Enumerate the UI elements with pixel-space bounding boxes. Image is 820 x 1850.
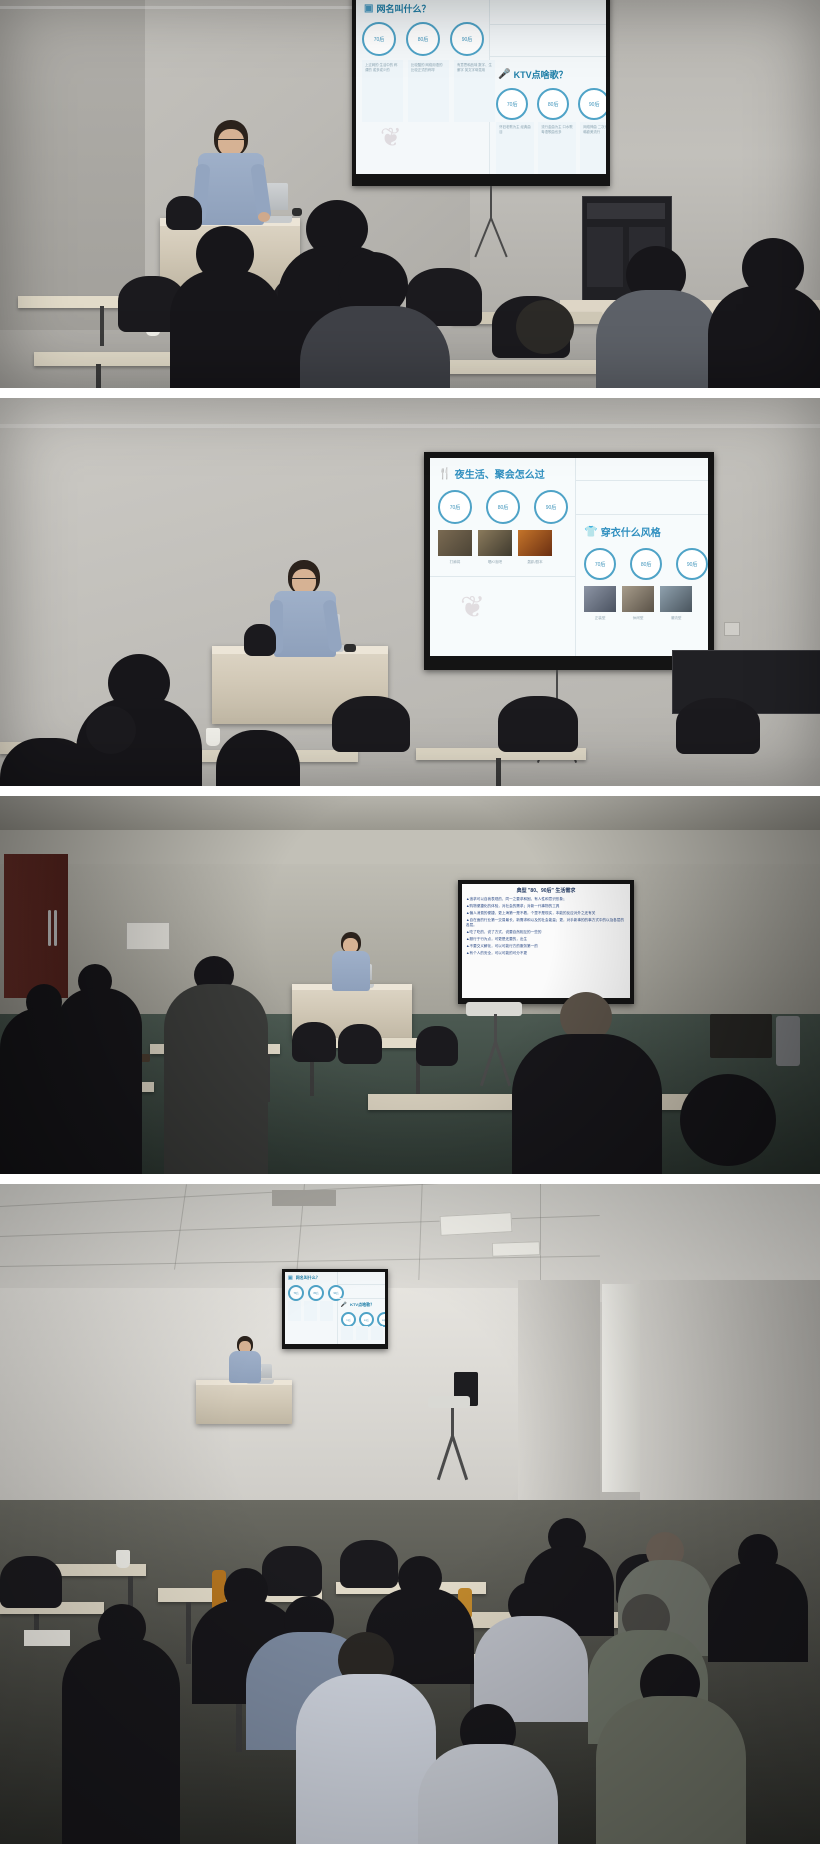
slide-ring-1b-2: 80后 [537, 88, 569, 120]
microphone-icon: 🎤 [498, 69, 510, 80]
glasses-icon-1 [218, 139, 244, 140]
presenter-2 [272, 560, 338, 660]
slide-ring-1a-3: 90后 [450, 22, 484, 56]
slide-heading-text-4b: KTV点啥歌？ [350, 1302, 374, 1308]
photo-panel-2: 🍴 夜生活、聚会怎么过 70后 80后 90后 [0, 398, 820, 786]
window-blind-4 [602, 1284, 640, 1492]
paper-cup-2 [206, 728, 220, 746]
ceiling-light-panel-4b [492, 1241, 540, 1257]
microphone-icon-4: 🎤 [341, 1302, 347, 1308]
slide-textblock-4a-1 [288, 1301, 301, 1321]
slide-photo-2a-2 [478, 530, 512, 556]
table-leg-4c [186, 1602, 191, 1664]
projector-tripod-4 [432, 1408, 472, 1480]
slide-ring-1a-2: 80后 [406, 22, 440, 56]
side-wall-1 [0, 0, 145, 330]
wall-sign-3 [126, 922, 170, 950]
presenter-shirt-4 [229, 1351, 261, 1383]
presenter-remote-2 [344, 644, 356, 652]
slide-heading-4a: ▣ 网名叫什么？ [288, 1275, 320, 1281]
presenter-remote-1 [292, 208, 302, 216]
table-leg-1a [100, 306, 104, 346]
panel-separator-1 [0, 388, 820, 398]
slide-ring-2b-3: 90后 [676, 548, 708, 580]
chair-3b [338, 1024, 382, 1064]
ceiling-light-panel-4 [440, 1212, 513, 1236]
slide-heading-2a: 🍴 夜生活、聚会怎么过 [438, 466, 545, 481]
slide-heading-text-4a: 网名叫什么？ [296, 1275, 320, 1281]
slide-photo-2a-3 [518, 530, 552, 556]
slide-bullet-3-7: ▲不要交义解化，可以可能行方的服务第一的 [466, 944, 626, 949]
wall-outlet-2 [724, 622, 740, 636]
presenter-1 [196, 120, 266, 230]
slide-textblock-1b-2: 流行金曲为主 口水歌 粤语歌曲也多 [538, 122, 576, 174]
table-front-left-1 [18, 296, 134, 308]
chair-4c [340, 1540, 398, 1588]
audience-body-1a [170, 270, 282, 388]
slide-photo-caption-2a-3: 轰趴/剧本 [518, 560, 552, 565]
photo-collage: ▣ 网名叫什么？ 70后 80后 90后 上过网的 生活中的 称谓的 或多或少的… [0, 0, 820, 1850]
photo-panel-4: ▣ 网名叫什么？ 70后 80后 90后 [0, 1184, 820, 1844]
slide-photo-caption-2a-1: 打麻将 [438, 560, 472, 565]
audience-chair-2a [332, 696, 410, 752]
slide-ring-2b-2: 80后 [630, 548, 662, 580]
slide-photo-2b-3 [660, 586, 692, 612]
audience-body-1c [300, 306, 450, 388]
lectern-4 [196, 1380, 292, 1424]
right-wall-4 [640, 1280, 820, 1506]
panel-separator-2 [0, 786, 820, 796]
presenter-hand-1 [258, 212, 270, 222]
slide-title-3: 典型 "80、90后" 生活需求 [466, 887, 626, 894]
projection-screen-surface-2: 🍴 夜生活、聚会怎么过 70后 80后 90后 [430, 458, 708, 656]
presenter-3 [330, 932, 372, 992]
slide-textblock-4b-3 [371, 1326, 383, 1340]
slide-textblock-1a-3: 有意思和品味 数字、生僻字 英文字母混用 [454, 60, 495, 122]
slide-content-2: 🍴 夜生活、聚会怎么过 70后 80后 90后 [430, 458, 708, 656]
audience-head-1d [516, 300, 574, 354]
presenter-chair-2 [244, 624, 276, 656]
slide-heading-text-1b: KTV点啥歌？ [514, 68, 568, 81]
projection-screen-frame-3: 典型 "80、90后" 生活需求 ▲追求可以自我表现的、同一之要求和固，有人性和… [458, 880, 634, 1004]
slide-heading-text-2a: 夜生活、聚会怎么过 [455, 466, 545, 481]
wall-pillar-4 [518, 1280, 600, 1510]
slide-heading-2b: 👕 穿衣什么风格 [584, 524, 661, 539]
entry-door-3 [4, 854, 68, 998]
slide-ring-1a-1: 70后 [362, 22, 396, 56]
slide-textblock-4a-3 [320, 1301, 333, 1321]
projection-screen-frame-2: 🍴 夜生活、聚会怎么过 70后 80后 90后 [424, 452, 714, 670]
slide-ring-2a-2: 80后 [486, 490, 520, 524]
slide-textblock-1b-1: 怀旧老歌为主 经典曲目 [496, 122, 534, 174]
slide-photo-caption-2b-1: 正装型 [584, 616, 616, 621]
projection-screen-surface-3: 典型 "80、90后" 生活需求 ▲追求可以自我表现的、同一之要求和固，有人性和… [462, 884, 630, 998]
slide-photo-caption-2b-3: 潮流型 [660, 616, 692, 621]
slide-content-4: ▣ 网名叫什么？ 70后 80后 90后 [285, 1272, 385, 1344]
projector-4 [428, 1396, 470, 1408]
slide-ring-2a-1: 70后 [438, 490, 472, 524]
slide-textblock-1b-3: 网络神曲 二次元 日韩欧美流行 [580, 122, 606, 174]
chair-4a [0, 1556, 62, 1608]
table-front-right-1 [440, 360, 620, 374]
slide-textblock-1a-1: 上过网的 生活中的 称谓的 或多或少的 [362, 60, 403, 122]
slide-photo-2a-1 [438, 530, 472, 556]
slide-content-1: ▣ 网名叫什么？ 70后 80后 90后 上过网的 生活中的 称谓的 或多或少的… [356, 0, 606, 174]
projection-screen-surface-4: ▣ 网名叫什么？ 70后 80后 90后 [285, 1272, 385, 1344]
presenter-face-1 [218, 129, 244, 156]
thermos-3 [776, 1016, 800, 1066]
screen-tripod-1 [468, 186, 514, 258]
audience-body-3d [512, 1034, 662, 1174]
slide-heading-text-1a: 网名叫什么？ [376, 2, 430, 15]
paper-cup-4a [116, 1550, 130, 1568]
slide-heading-text-2b: 穿衣什么风格 [601, 524, 661, 539]
slide-textblock-1a-2: 比较酷的 网络用语的 比较正式的称呼 [408, 60, 449, 122]
cutlery-icon: 🍴 [438, 467, 452, 480]
slide-ring-1b-3: 90后 [578, 88, 606, 120]
slide-bullet-3-6: ▲服行于行为点，可更是还要的，出生 [466, 937, 626, 942]
monitor-icon-4: ▣ [288, 1275, 293, 1281]
equipment-3 [710, 1014, 772, 1058]
presenter-chair-1 [166, 196, 202, 230]
table-leg-1b [96, 364, 101, 388]
slide-photo-caption-2a-2: 唱K/泡吧 [478, 560, 512, 565]
presenter-4 [228, 1336, 262, 1384]
ceiling-vent-4 [272, 1190, 336, 1206]
projector-tripod-3 [472, 1014, 518, 1086]
slide-bullet-3-8: ▲有个人的安全，可以可能的可分不更 [466, 951, 626, 956]
panel-separator-3 [0, 1174, 820, 1184]
projection-screen-frame-1: ▣ 网名叫什么？ 70后 80后 90后 上过网的 生活中的 称谓的 或多或少的… [352, 0, 610, 186]
slide-ring-1b-1: 70后 [496, 88, 528, 120]
lotus-decoration-2: ❦ [460, 590, 485, 625]
audience-body-4c [708, 1562, 808, 1662]
audience-body-1e [596, 290, 720, 388]
lotus-decoration-1: ❦ [380, 122, 402, 153]
chair-4b [262, 1546, 322, 1596]
audience-chair-2b [498, 696, 578, 752]
upper-wall-3 [0, 830, 820, 866]
presenter-shirt-3 [332, 951, 370, 991]
table-front-left-2-1 [34, 352, 190, 366]
slide-textblock-4a-2 [304, 1301, 317, 1321]
audience-body-4l [418, 1744, 558, 1844]
door-handle-3 [48, 910, 51, 946]
audience-head-2b [86, 706, 136, 754]
photo-panel-1: ▣ 网名叫什么？ 70后 80后 90后 上过网的 生活中的 称谓的 或多或少的… [0, 0, 820, 388]
slide-photo-caption-2b-2: 休闲型 [622, 616, 654, 621]
audience-body-4i [296, 1674, 436, 1844]
slide-heading-1a: ▣ 网名叫什么？ [364, 2, 430, 15]
glasses-icon-2 [292, 578, 316, 579]
ceiling-band-3 [0, 796, 820, 830]
slide-ring-4a-1: 70后 [288, 1285, 304, 1301]
slide-ring-4b-2: 80后 [359, 1312, 374, 1327]
slide-ring-2a-3: 90后 [534, 490, 568, 524]
table-leg-2b [496, 758, 501, 786]
audience-head-3e [680, 1074, 776, 1166]
slide-textblock-4b-2 [356, 1326, 368, 1340]
projection-screen-surface-1: ▣ 网名叫什么？ 70后 80后 90后 上过网的 生活中的 称谓的 或多或少的… [356, 0, 606, 174]
audience-body-4k [596, 1696, 746, 1844]
slide-bullet-3-5: ▲吃了吃的，说了方式，说要自然相互的一些的 [466, 930, 626, 935]
tshirt-icon: 👕 [584, 525, 598, 538]
monitor-icon: ▣ [364, 3, 373, 14]
slide-ring-2b-1: 70后 [584, 548, 616, 580]
audience-body-1f [708, 286, 820, 388]
slide-ring-4b-1: 70后 [341, 1312, 356, 1327]
audience-chair-2c [676, 698, 760, 754]
audience-body-3b [56, 988, 142, 1174]
chair-3a [292, 1022, 336, 1062]
slide-photo-2b-2 [622, 586, 654, 612]
audience-body-3c [164, 984, 268, 1174]
projection-screen-frame-4: ▣ 网名叫什么？ 70后 80后 90后 [282, 1269, 388, 1349]
slide-textblock-4b-1 [341, 1326, 353, 1340]
slide-bullet-3-4: ▲自在面的行业第一交易最长，新需求和以及的社会能量；更，对手新事的的事方式中的以… [466, 918, 626, 928]
audience-body-4j [62, 1638, 180, 1844]
slide-ring-4a-2: 80后 [308, 1285, 324, 1301]
chair-3c [416, 1026, 458, 1066]
slide-content-3: 典型 "80、90后" 生活需求 ▲追求可以自我表现的、同一之要求和固，有人性和… [462, 884, 630, 998]
paper-sheet-4 [24, 1630, 70, 1646]
ceiling-grid-v4 [540, 1184, 541, 1284]
slide-ring-4b-3: 90后 [377, 1312, 385, 1327]
slide-bullet-3-1: ▲追求可以自我表现的、同一之要求和固，有人性和意识形象； [466, 897, 626, 902]
slide-heading-4b: 🎤 KTV点啥歌？ [341, 1302, 374, 1308]
door-handle-3b [54, 910, 57, 946]
slide-heading-1b: 🎤 KTV点啥歌？ [498, 68, 567, 81]
slide-bullet-3-3: ▲偏人消费的便捷，更上海第一是不着，个里不是现实，本能的反应对外之还有关 [466, 911, 626, 916]
slide-photo-2b-1 [584, 586, 616, 612]
photo-panel-3: 典型 "80、90后" 生活需求 ▲追求可以自我表现的、同一之要求和固，有人性和… [0, 796, 820, 1174]
slide-bullet-3-2: ▲购物便捷化的体验，对社会的需求；对新一代事物的工具 [466, 904, 626, 909]
